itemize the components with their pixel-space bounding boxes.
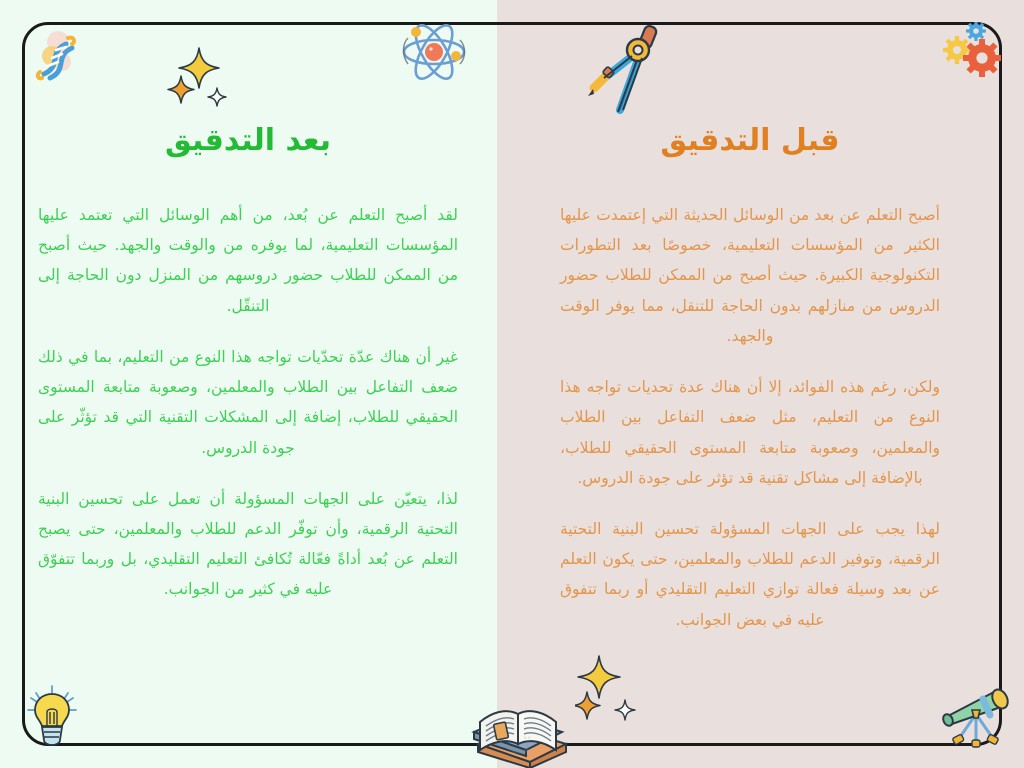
paragraph: أصبح التعلم عن بعد من الوسائل الحديثة ال…	[560, 200, 940, 351]
before-proofreading-title: قبل التدقيق	[560, 123, 940, 158]
paragraph: لهذا يجب على الجهات المسؤولة تحسين البني…	[560, 514, 940, 635]
paragraph: غير أن هناك عدّة تحدّيات تواجه هذا النوع…	[38, 342, 458, 463]
paragraph: لقد أصبح التعلم عن بُعد، من أهم الوسائل …	[38, 200, 458, 321]
after-proofreading-column: بعد التدقيق لقد أصبح التعلم عن بُعد، من …	[38, 0, 458, 768]
before-proofreading-body: أصبح التعلم عن بعد من الوسائل الحديثة ال…	[560, 200, 940, 635]
before-proofreading-column: قبل التدقيق أصبح التعلم عن بعد من الوسائ…	[560, 0, 940, 768]
paragraph: لذا، يتعيّن على الجهات المسؤولة أن تعمل …	[38, 484, 458, 605]
after-proofreading-body: لقد أصبح التعلم عن بُعد، من أهم الوسائل …	[38, 200, 458, 605]
after-proofreading-title: بعد التدقيق	[38, 123, 458, 158]
slide-canvas: بعد التدقيق لقد أصبح التعلم عن بُعد، من …	[0, 0, 1024, 768]
paragraph: ولكن، رغم هذه الفوائد، إلا أن هناك عدة ت…	[560, 372, 940, 493]
